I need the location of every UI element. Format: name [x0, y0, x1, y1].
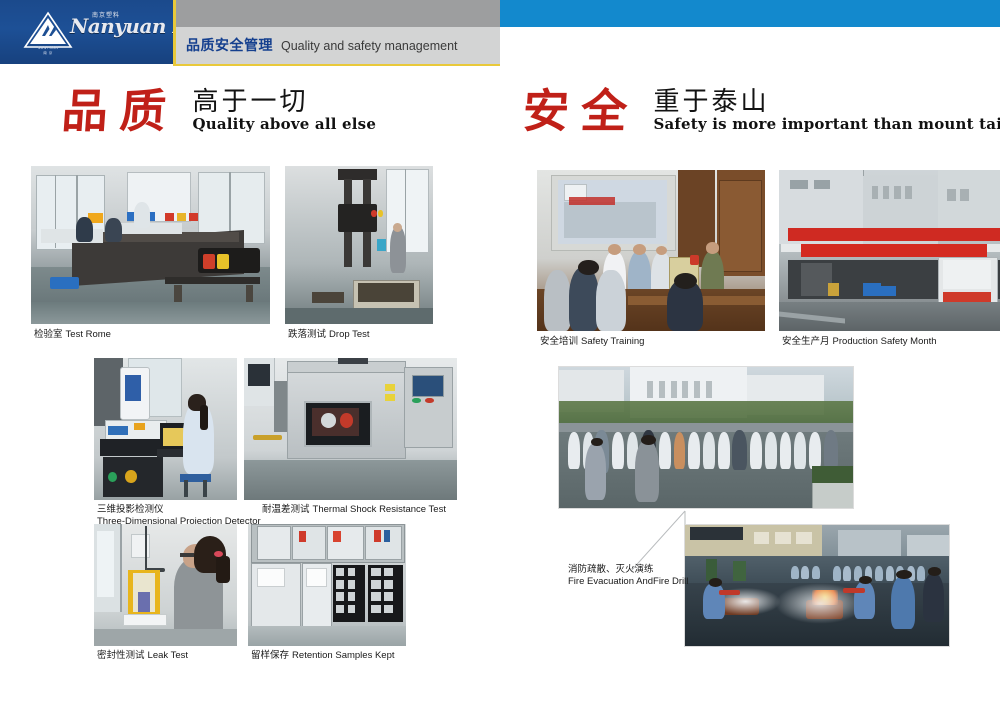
photo-projection-detector — [94, 358, 237, 500]
company-logo: NANYUAN 南 京 南京塑料 Nanyuan Plastics — [22, 10, 167, 56]
logo-sub-cn: 南 京 — [24, 51, 72, 56]
quality-heading-cn: 高于一切 — [192, 87, 308, 117]
caption-thermal-shock-en: Thermal Shock Resistance Test — [313, 504, 446, 515]
caption-leak-test-cn: 密封性测试 — [97, 650, 145, 661]
safety-heading-calligraphy: 安全 — [521, 88, 640, 134]
quality-heading: 品质 高于一切 Quality above all else — [62, 88, 376, 134]
caption-thermal-shock-cn: 耐温差测试 — [262, 504, 310, 515]
photo-thermal-shock — [244, 358, 457, 500]
caption-production-safety-month: 安全生产月 Production Safety Month — [782, 336, 937, 348]
caption-production-safety-month-cn: 安全生产月 — [782, 336, 830, 347]
caption-fire-drill-en: Fire Evacuation AndFire Drill — [568, 576, 688, 588]
safety-heading-cn: 重于泰山 — [653, 87, 769, 117]
caption-leak-test: 密封性测试 Leak Test — [97, 650, 188, 662]
caption-retention-samples-cn: 留样保存 — [251, 650, 289, 661]
quality-heading-calligraphy: 品质 — [60, 88, 179, 134]
caption-thermal-shock: 耐温差测试 Thermal Shock Resistance Test — [262, 504, 446, 516]
logo-panel: NANYUAN 南 京 南京塑料 Nanyuan Plastics — [0, 0, 173, 64]
caption-retention-samples-en: Retention Samples Kept — [292, 650, 394, 661]
caption-drop-test: 跌落测试 Drop Test — [288, 329, 370, 341]
page-body: 品质 高于一切 Quality above all else — [0, 66, 1000, 707]
photo-leak-test — [94, 524, 237, 646]
logo-brand-latin: Nanyuan Plastics — [70, 16, 170, 36]
header-blue-bar — [500, 0, 1000, 27]
caption-test-room-cn: 检验室 — [34, 329, 63, 340]
page-title-en: Quality and safety management — [281, 39, 458, 53]
photo-safety-training — [537, 170, 765, 331]
caption-retention-samples: 留样保存 Retention Samples Kept — [251, 650, 395, 662]
photo-drop-test — [285, 166, 433, 324]
photo-assembly-drill — [558, 366, 854, 509]
caption-drop-test-cn: 跌落测试 — [288, 329, 326, 340]
logo-wordmark: 南京塑料 Nanyuan Plastics — [70, 16, 170, 46]
header-gray-strip — [176, 0, 500, 27]
logo-subtext: NANYUAN 南 京 — [24, 46, 72, 56]
caption-drop-test-en: Drop Test — [329, 329, 369, 340]
logo-brand-cn: 南京塑料 — [92, 10, 120, 19]
caption-test-room: 检验室 Test Rome — [34, 329, 111, 341]
photo-retention-samples — [248, 524, 406, 646]
safety-heading: 安全 重于泰山 Safety is more important than mo… — [523, 88, 1000, 134]
quality-heading-en: Quality above all else — [192, 115, 376, 133]
caption-leak-test-en: Leak Test — [148, 650, 189, 661]
corner-accent-line — [630, 510, 686, 572]
page-title: 品质安全管理 Quality and safety management — [186, 35, 458, 55]
photo-production-safety-month — [779, 170, 1000, 331]
caption-test-room-en: Test Rome — [66, 329, 111, 340]
photo-fire-drill — [684, 524, 950, 647]
caption-safety-training-cn: 安全培训 — [540, 336, 578, 347]
photo-test-room — [31, 166, 270, 324]
caption-safety-training: 安全培训 Safety Training — [540, 336, 644, 348]
page-title-cn: 品质安全管理 — [186, 35, 273, 55]
banner-bottom — [801, 244, 987, 257]
caption-fire-drill: 消防疏散、灭火演练 Fire Evacuation AndFire Drill — [568, 564, 688, 588]
caption-safety-training-en: Safety Training — [581, 336, 644, 347]
banner-top — [788, 228, 1000, 241]
triangle-emblem-icon — [22, 10, 74, 50]
caption-fire-drill-cn: 消防疏散、灭火演练 — [568, 564, 688, 576]
safety-heading-en: Safety is more important than mount tai — [653, 115, 1000, 133]
page-header: NANYUAN 南 京 南京塑料 Nanyuan Plastics 品质安全管理… — [0, 0, 1000, 66]
caption-production-safety-month-en: Production Safety Month — [833, 336, 937, 347]
caption-projection-detector-cn: 三维投影检测仪 — [97, 504, 261, 516]
